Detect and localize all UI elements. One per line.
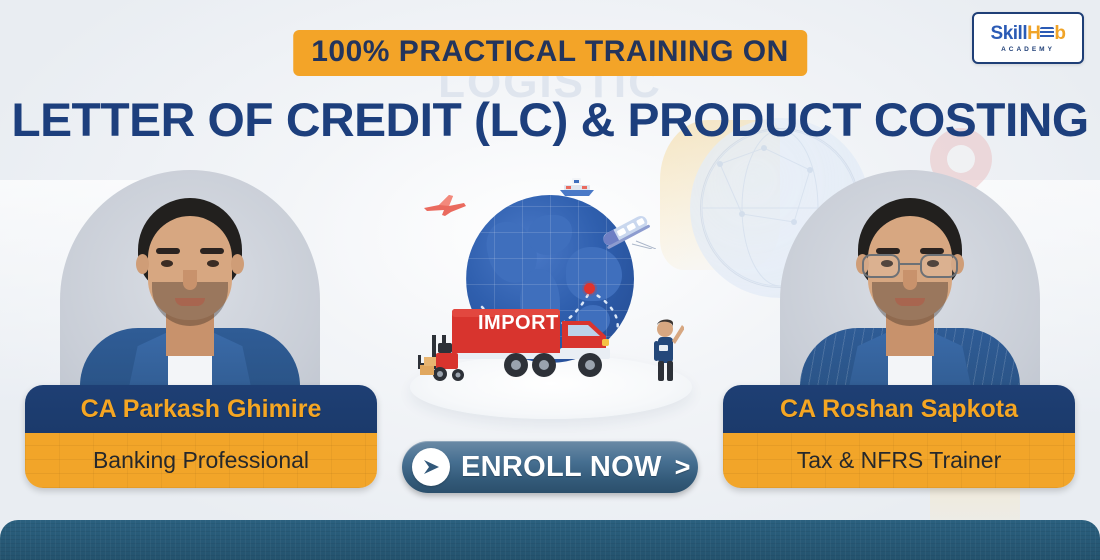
- enroll-now-button[interactable]: ENROLL NOW >: [402, 441, 698, 493]
- speaker-left-brow-left: [156, 248, 180, 254]
- speaker-left-eye-right: [207, 260, 219, 267]
- speaker-left-role: Banking Professional: [93, 447, 309, 474]
- speaker-left-ear-right: [231, 254, 244, 274]
- worker-icon: [648, 317, 684, 385]
- speaker-left-photo: [60, 170, 320, 420]
- chevron-right-icon: >: [675, 452, 691, 483]
- globe-marker-icon: [584, 283, 595, 294]
- speaker-right-photo: [780, 170, 1040, 420]
- speaker-right-role-wrap: Tax & NFRS Trainer: [723, 433, 1075, 488]
- books-icon: [1040, 27, 1054, 40]
- enroll-now-label: ENROLL NOW: [461, 451, 662, 484]
- speaker-left-mouth: [175, 298, 205, 306]
- speaker-left-ear-left: [136, 254, 149, 274]
- footer-bar: [0, 520, 1100, 560]
- logo-subtitle: ACADEMY: [1001, 46, 1055, 53]
- logo-text-b: b: [1054, 24, 1065, 43]
- brand-logo[interactable]: SkillHb ACADEMY: [972, 12, 1084, 64]
- logo-text-skill: Skill: [991, 24, 1028, 43]
- speaker-right-name: CA Roshan Sapkota: [723, 385, 1075, 433]
- training-badge: 100% PRACTICAL TRAINING ON: [293, 30, 807, 76]
- speaker-left-nose: [183, 270, 197, 290]
- speaker-right-nameplate: CA Roshan Sapkota Tax & NFRS Trainer: [723, 385, 1075, 488]
- speaker-right-role: Tax & NFRS Trainer: [797, 447, 1002, 474]
- speaker-right-mouth: [895, 298, 925, 306]
- promo-banner: LOGISTIC SkillHb ACADEMY 100% PRACTICAL …: [0, 0, 1100, 560]
- ship-icon: [558, 177, 596, 197]
- speaker-left-name: CA Parkash Ghimire: [25, 385, 377, 433]
- logo-text-h: H: [1027, 24, 1040, 43]
- page-title: LETTER OF CREDIT (LC) & PRODUCT COSTING: [0, 92, 1100, 147]
- speaker-left: [25, 170, 355, 420]
- speaker-left-brow-right: [200, 248, 224, 254]
- speaker-left-eye-left: [161, 260, 173, 267]
- train-icon: [596, 215, 656, 249]
- plane-icon: [422, 193, 468, 217]
- speaker-right-nose: [903, 270, 917, 290]
- logo-wordmark: SkillHb: [991, 24, 1066, 43]
- forklift-icon: [416, 327, 472, 383]
- speaker-left-role-wrap: Banking Professional: [25, 433, 377, 488]
- speaker-right: [745, 170, 1075, 420]
- truck-icon: [450, 305, 630, 383]
- speaker-left-nameplate: CA Parkash Ghimire Banking Professional: [25, 385, 377, 488]
- play-arrow-icon: [412, 448, 450, 486]
- logistics-illustration: IMPORT: [400, 165, 700, 425]
